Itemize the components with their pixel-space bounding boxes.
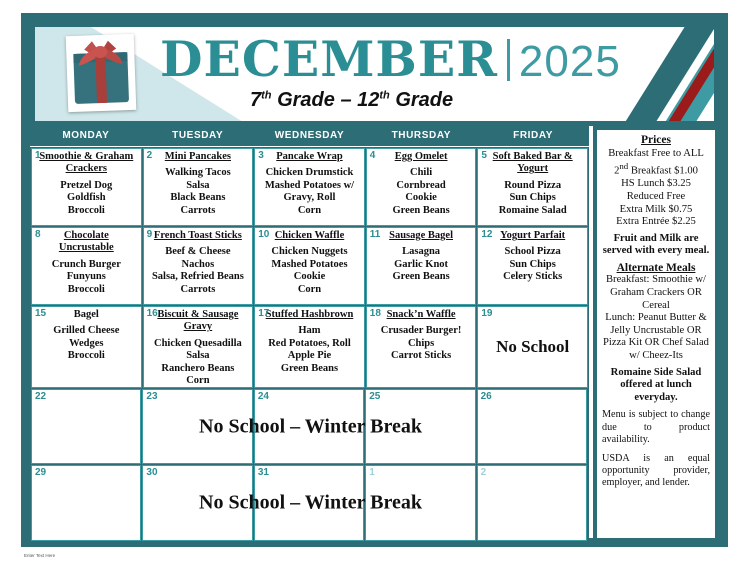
- day-menu: BagelGrilled CheeseWedgesBroccoli: [32, 307, 141, 363]
- day-number: 23: [146, 391, 157, 402]
- year-label: 2025: [519, 37, 621, 86]
- grade-second-suffix: th: [379, 89, 389, 101]
- lunch-item: Green Beans: [370, 271, 473, 283]
- breakfast-item: Bagel: [35, 309, 138, 321]
- lunch-item: Black Beans: [147, 192, 250, 204]
- day-number: 8: [35, 229, 41, 240]
- footer-placeholder-text[interactable]: Enter Text Here: [24, 553, 55, 558]
- prices-title: Prices: [602, 134, 710, 147]
- calendar-week-row: 15BagelGrilled CheeseWedgesBroccoli16Bis…: [31, 306, 588, 389]
- alternate-breakfast: Breakfast: Smoothie w/ Graham Crackers O…: [602, 274, 710, 312]
- lunch-item: Chicken Quesadilla: [147, 338, 250, 350]
- day-number: 16: [147, 308, 158, 319]
- day-number: 9: [147, 229, 153, 240]
- no-school-label: No School: [478, 337, 587, 357]
- calendar-day-cell[interactable]: 1: [365, 465, 475, 541]
- calendar-week-row: 8Chocolate UncrustableCrunch BurgerFunyu…: [31, 227, 588, 306]
- lunch-item: Red Potatoes, Roll: [258, 338, 361, 350]
- romaine-salad-note: Romaine Side Salad offered at lunch ever…: [602, 367, 710, 405]
- day-number: 1: [369, 467, 375, 478]
- day-menu: Sausage BagelLasagnaGarlic KnotGreen Bea…: [367, 228, 476, 284]
- price-extra-milk: Extra Milk $0.75: [602, 204, 710, 217]
- weekday-header-wednesday: WEDNESDAY: [254, 126, 366, 146]
- day-number: 2: [147, 150, 153, 161]
- lunch-item: School Pizza: [481, 246, 584, 258]
- grade-range-label: 7th Grade – 12th Grade: [250, 89, 453, 112]
- header-banner: DECEMBER2025 7th Grade – 12th Grade: [30, 22, 719, 126]
- calendar-day-cell[interactable]: 2: [477, 465, 587, 541]
- lunch-item: Nachos: [147, 259, 250, 271]
- calendar-day-cell[interactable]: 11Sausage BagelLasagnaGarlic KnotGreen B…: [366, 227, 477, 305]
- breakfast-item: Yogurt Parfait: [481, 230, 584, 242]
- day-menu: Snack’n WaffleCrusader Burger!ChipsCarro…: [367, 307, 476, 363]
- lunch-item: Chili: [370, 167, 473, 179]
- breakfast-item: Chicken Waffle: [258, 230, 361, 242]
- day-menu: Smoothie & Graham CrackersPretzel DogGol…: [32, 149, 141, 217]
- price-reduced: Reduced Free: [602, 191, 710, 204]
- day-menu: Chocolate UncrustableCrunch BurgerFunyun…: [32, 228, 141, 296]
- day-number: 1: [35, 150, 41, 161]
- alternate-lunch: Lunch: Peanut Butter & Jelly Uncrustable…: [602, 312, 710, 362]
- day-number: 4: [370, 150, 376, 161]
- calendar-day-cell[interactable]: 16Biscuit & Sausage GravyChicken Quesadi…: [143, 306, 254, 388]
- calendar-day-cell[interactable]: 3Pancake WrapChicken DrumstickMashed Pot…: [254, 148, 365, 226]
- lunch-item: Salsa, Refried Beans: [147, 271, 250, 283]
- day-menu: Mini PancakesWalking TacosSalsaBlack Bea…: [144, 149, 253, 217]
- title-separator: [507, 39, 510, 81]
- calendar-day-cell[interactable]: 5Soft Baked Bar & YogurtRound PizzaSun C…: [477, 148, 588, 226]
- lunch-item: Gravy, Roll: [258, 192, 361, 204]
- lunch-item: Crusader Burger!: [370, 325, 473, 337]
- lunch-item: Round Pizza: [481, 180, 584, 192]
- price-extra-entree: Extra Entrée $2.25: [602, 216, 710, 229]
- lunch-item: Celery Sticks: [481, 271, 584, 283]
- alternate-meals-title: Alternate Meals: [602, 262, 710, 275]
- lunch-item: Pretzel Dog: [35, 180, 138, 192]
- calendar-day-cell[interactable]: 9French Toast SticksBeef & CheeseNachosS…: [143, 227, 254, 305]
- lunch-item: Ham: [258, 325, 361, 337]
- weekday-header-thursday: THURSDAY: [365, 126, 477, 146]
- usda-statement: USDA is an equal opportunity provider, e…: [602, 453, 710, 490]
- lunch-item: Walking Tacos: [147, 167, 250, 179]
- calendar-day-cell[interactable]: 17Stuffed HashbrownHamRed Potatoes, Roll…: [254, 306, 365, 388]
- lunch-item: Beef & Cheese: [147, 246, 250, 258]
- calendar-day-cell[interactable]: 31: [254, 465, 364, 541]
- breakfast-item: Egg Omelet: [370, 151, 473, 163]
- grade-second-number: 12: [357, 89, 379, 111]
- day-number: 15: [35, 308, 46, 319]
- price-breakfast-free: Breakfast Free to ALL: [602, 148, 710, 161]
- calendar-day-cell[interactable]: 25: [365, 389, 475, 464]
- day-number: 19: [481, 308, 492, 319]
- lunch-item: Cornbread: [370, 180, 473, 192]
- lunch-item: Sun Chips: [481, 192, 584, 204]
- day-number: 12: [481, 229, 492, 240]
- day-menu: Stuffed HashbrownHamRed Potatoes, RollAp…: [255, 307, 364, 375]
- day-menu: Yogurt ParfaitSchool PizzaSun ChipsCeler…: [478, 228, 587, 284]
- calendar-day-cell[interactable]: 1Smoothie & Graham CrackersPretzel DogGo…: [31, 148, 142, 226]
- breakfast-item: Stuffed Hashbrown: [258, 309, 361, 321]
- calendar-grid: 1Smoothie & Graham CrackersPretzel DogGo…: [30, 147, 589, 542]
- day-number: 5: [481, 150, 487, 161]
- breakfast-item: Pancake Wrap: [258, 151, 361, 163]
- calendar-day-cell[interactable]: 22: [31, 389, 141, 464]
- lunch-item: Corn: [147, 375, 250, 387]
- lunch-item: Funyuns: [35, 271, 138, 283]
- header-banner-inner: DECEMBER2025 7th Grade – 12th Grade: [35, 27, 714, 121]
- calendar-day-cell[interactable]: 12Yogurt ParfaitSchool PizzaSun ChipsCel…: [477, 227, 588, 305]
- day-number: 3: [258, 150, 264, 161]
- calendar-day-cell[interactable]: 4Egg OmeletChiliCornbreadCookieGreen Bea…: [366, 148, 477, 226]
- breakfast-item: Sausage Bagel: [370, 230, 473, 242]
- calendar-week-row: 29303112No School – Winter Break: [31, 465, 588, 541]
- lunch-item: Carrot Sticks: [370, 350, 473, 362]
- lunch-item: Carrots: [147, 284, 250, 296]
- day-number: 22: [35, 391, 46, 402]
- day-number: 24: [258, 391, 269, 402]
- lunch-item: Wedges: [35, 338, 138, 350]
- lunch-item: Salsa: [147, 350, 250, 362]
- calendar-day-cell[interactable]: 29: [31, 465, 141, 541]
- grade-end-text: Grade: [395, 89, 453, 111]
- calendar-page: DECEMBER2025 7th Grade – 12th Grade MOND…: [0, 0, 749, 578]
- day-number: 25: [369, 391, 380, 402]
- price-second-breakfast-rest: Breakfast $1.00: [628, 166, 698, 177]
- lunch-item: Sun Chips: [481, 259, 584, 271]
- day-number: 26: [481, 391, 492, 402]
- calendar-day-cell[interactable]: 18Snack’n WaffleCrusader Burger!ChipsCar…: [366, 306, 477, 388]
- day-menu: Soft Baked Bar & YogurtRound PizzaSun Ch…: [478, 149, 587, 217]
- breakfast-item: Smoothie & Graham Crackers: [35, 151, 138, 176]
- calendar-week-row: 1Smoothie & Graham CrackersPretzel DogGo…: [31, 148, 588, 227]
- grade-middle-text: Grade –: [277, 89, 357, 111]
- lunch-item: Goldfish: [35, 192, 138, 204]
- grade-first-suffix: th: [261, 89, 271, 101]
- calendar-day-cell[interactable]: 19No School: [477, 306, 588, 388]
- lunch-item: Mashed Potatoes: [258, 259, 361, 271]
- calendar-day-cell[interactable]: 30: [142, 465, 252, 541]
- day-number: 2: [481, 467, 487, 478]
- info-sidebar-content: Prices Breakfast Free to ALL 2nd Breakfa…: [597, 130, 715, 538]
- lunch-item: Apple Pie: [258, 350, 361, 362]
- lunch-item: Broccoli: [35, 350, 138, 362]
- calendar-day-cell[interactable]: 24: [254, 389, 364, 464]
- lunch-item: Chicken Drumstick: [258, 167, 361, 179]
- day-number: 31: [258, 467, 269, 478]
- info-sidebar: Prices Breakfast Free to ALL 2nd Breakfa…: [593, 126, 719, 542]
- calendar-day-cell[interactable]: 2Mini PancakesWalking TacosSalsaBlack Be…: [143, 148, 254, 226]
- gift-box-icon: [66, 34, 137, 112]
- day-menu: Pancake WrapChicken DrumstickMashed Pota…: [255, 149, 364, 217]
- lunch-item: Cookie: [258, 271, 361, 283]
- lunch-item: Garlic Knot: [370, 259, 473, 271]
- breakfast-item: Chocolate Uncrustable: [35, 230, 138, 255]
- grade-first-number: 7: [250, 89, 261, 111]
- weekday-header-row: MONDAY TUESDAY WEDNESDAY THURSDAY FRIDAY: [30, 126, 589, 146]
- day-menu: Chicken WaffleChicken NuggetsMashed Pota…: [255, 228, 364, 296]
- lunch-item: Corn: [258, 284, 361, 296]
- day-menu: French Toast SticksBeef & CheeseNachosSa…: [144, 228, 253, 296]
- lunch-item: Corn: [258, 205, 361, 217]
- day-number: 18: [370, 308, 381, 319]
- breakfast-item: Biscuit & Sausage Gravy: [147, 309, 250, 334]
- calendar-day-cell[interactable]: 15BagelGrilled CheeseWedgesBroccoli: [31, 306, 142, 388]
- day-number: 11: [370, 229, 381, 240]
- lunch-item: Grilled Cheese: [35, 325, 138, 337]
- lunch-item: Chicken Nuggets: [258, 246, 361, 258]
- breakfast-item: French Toast Sticks: [147, 230, 250, 242]
- page-title: DECEMBER2025: [160, 35, 621, 84]
- month-label: DECEMBER: [160, 30, 498, 88]
- lunch-item: Green Beans: [370, 205, 473, 217]
- day-number: 29: [35, 467, 46, 478]
- calendar-day-cell[interactable]: 10Chicken WaffleChicken NuggetsMashed Po…: [254, 227, 365, 305]
- day-number: 10: [258, 229, 269, 240]
- calendar-week-row: 2223242526No School – Winter Break: [31, 389, 588, 465]
- lunch-item: Romaine Salad: [481, 205, 584, 217]
- lunch-item: Mashed Potatoes w/: [258, 180, 361, 192]
- price-hs-lunch: HS Lunch $3.25: [602, 178, 710, 191]
- lunch-item: Chips: [370, 338, 473, 350]
- breakfast-item: Mini Pancakes: [147, 151, 250, 163]
- weekday-header-friday: FRIDAY: [477, 126, 589, 146]
- day-number: 17: [258, 308, 269, 319]
- calendar-day-cell[interactable]: 23: [142, 389, 252, 464]
- calendar-day-cell[interactable]: 8Chocolate UncrustableCrunch BurgerFunyu…: [31, 227, 142, 305]
- day-menu: Biscuit & Sausage GravyChicken Quesadill…: [144, 307, 253, 387]
- calendar-day-cell[interactable]: 26: [477, 389, 587, 464]
- lunch-item: Cookie: [370, 192, 473, 204]
- fruit-milk-note: Fruit and Milk are served with every mea…: [602, 233, 710, 258]
- price-second-breakfast-sup: nd: [619, 161, 628, 171]
- lunch-item: Broccoli: [35, 205, 138, 217]
- menu-disclaimer: Menu is subject to change due to product…: [602, 409, 710, 446]
- weekday-header-monday: MONDAY: [30, 126, 142, 146]
- lunch-item: Ranchero Beans: [147, 363, 250, 375]
- breakfast-item: Soft Baked Bar & Yogurt: [481, 151, 584, 176]
- lunch-item: Broccoli: [35, 284, 138, 296]
- breakfast-item: Snack’n Waffle: [370, 309, 473, 321]
- day-menu: Egg OmeletChiliCornbreadCookieGreen Bean…: [367, 149, 476, 217]
- lunch-item: Carrots: [147, 205, 250, 217]
- lunch-item: Salsa: [147, 180, 250, 192]
- price-second-breakfast: 2nd Breakfast $1.00: [602, 160, 710, 178]
- day-number: 30: [146, 467, 157, 478]
- lunch-item: Green Beans: [258, 363, 361, 375]
- lunch-item: Crunch Burger: [35, 259, 138, 271]
- weekday-header-tuesday: TUESDAY: [142, 126, 254, 146]
- lunch-item: Lasagna: [370, 246, 473, 258]
